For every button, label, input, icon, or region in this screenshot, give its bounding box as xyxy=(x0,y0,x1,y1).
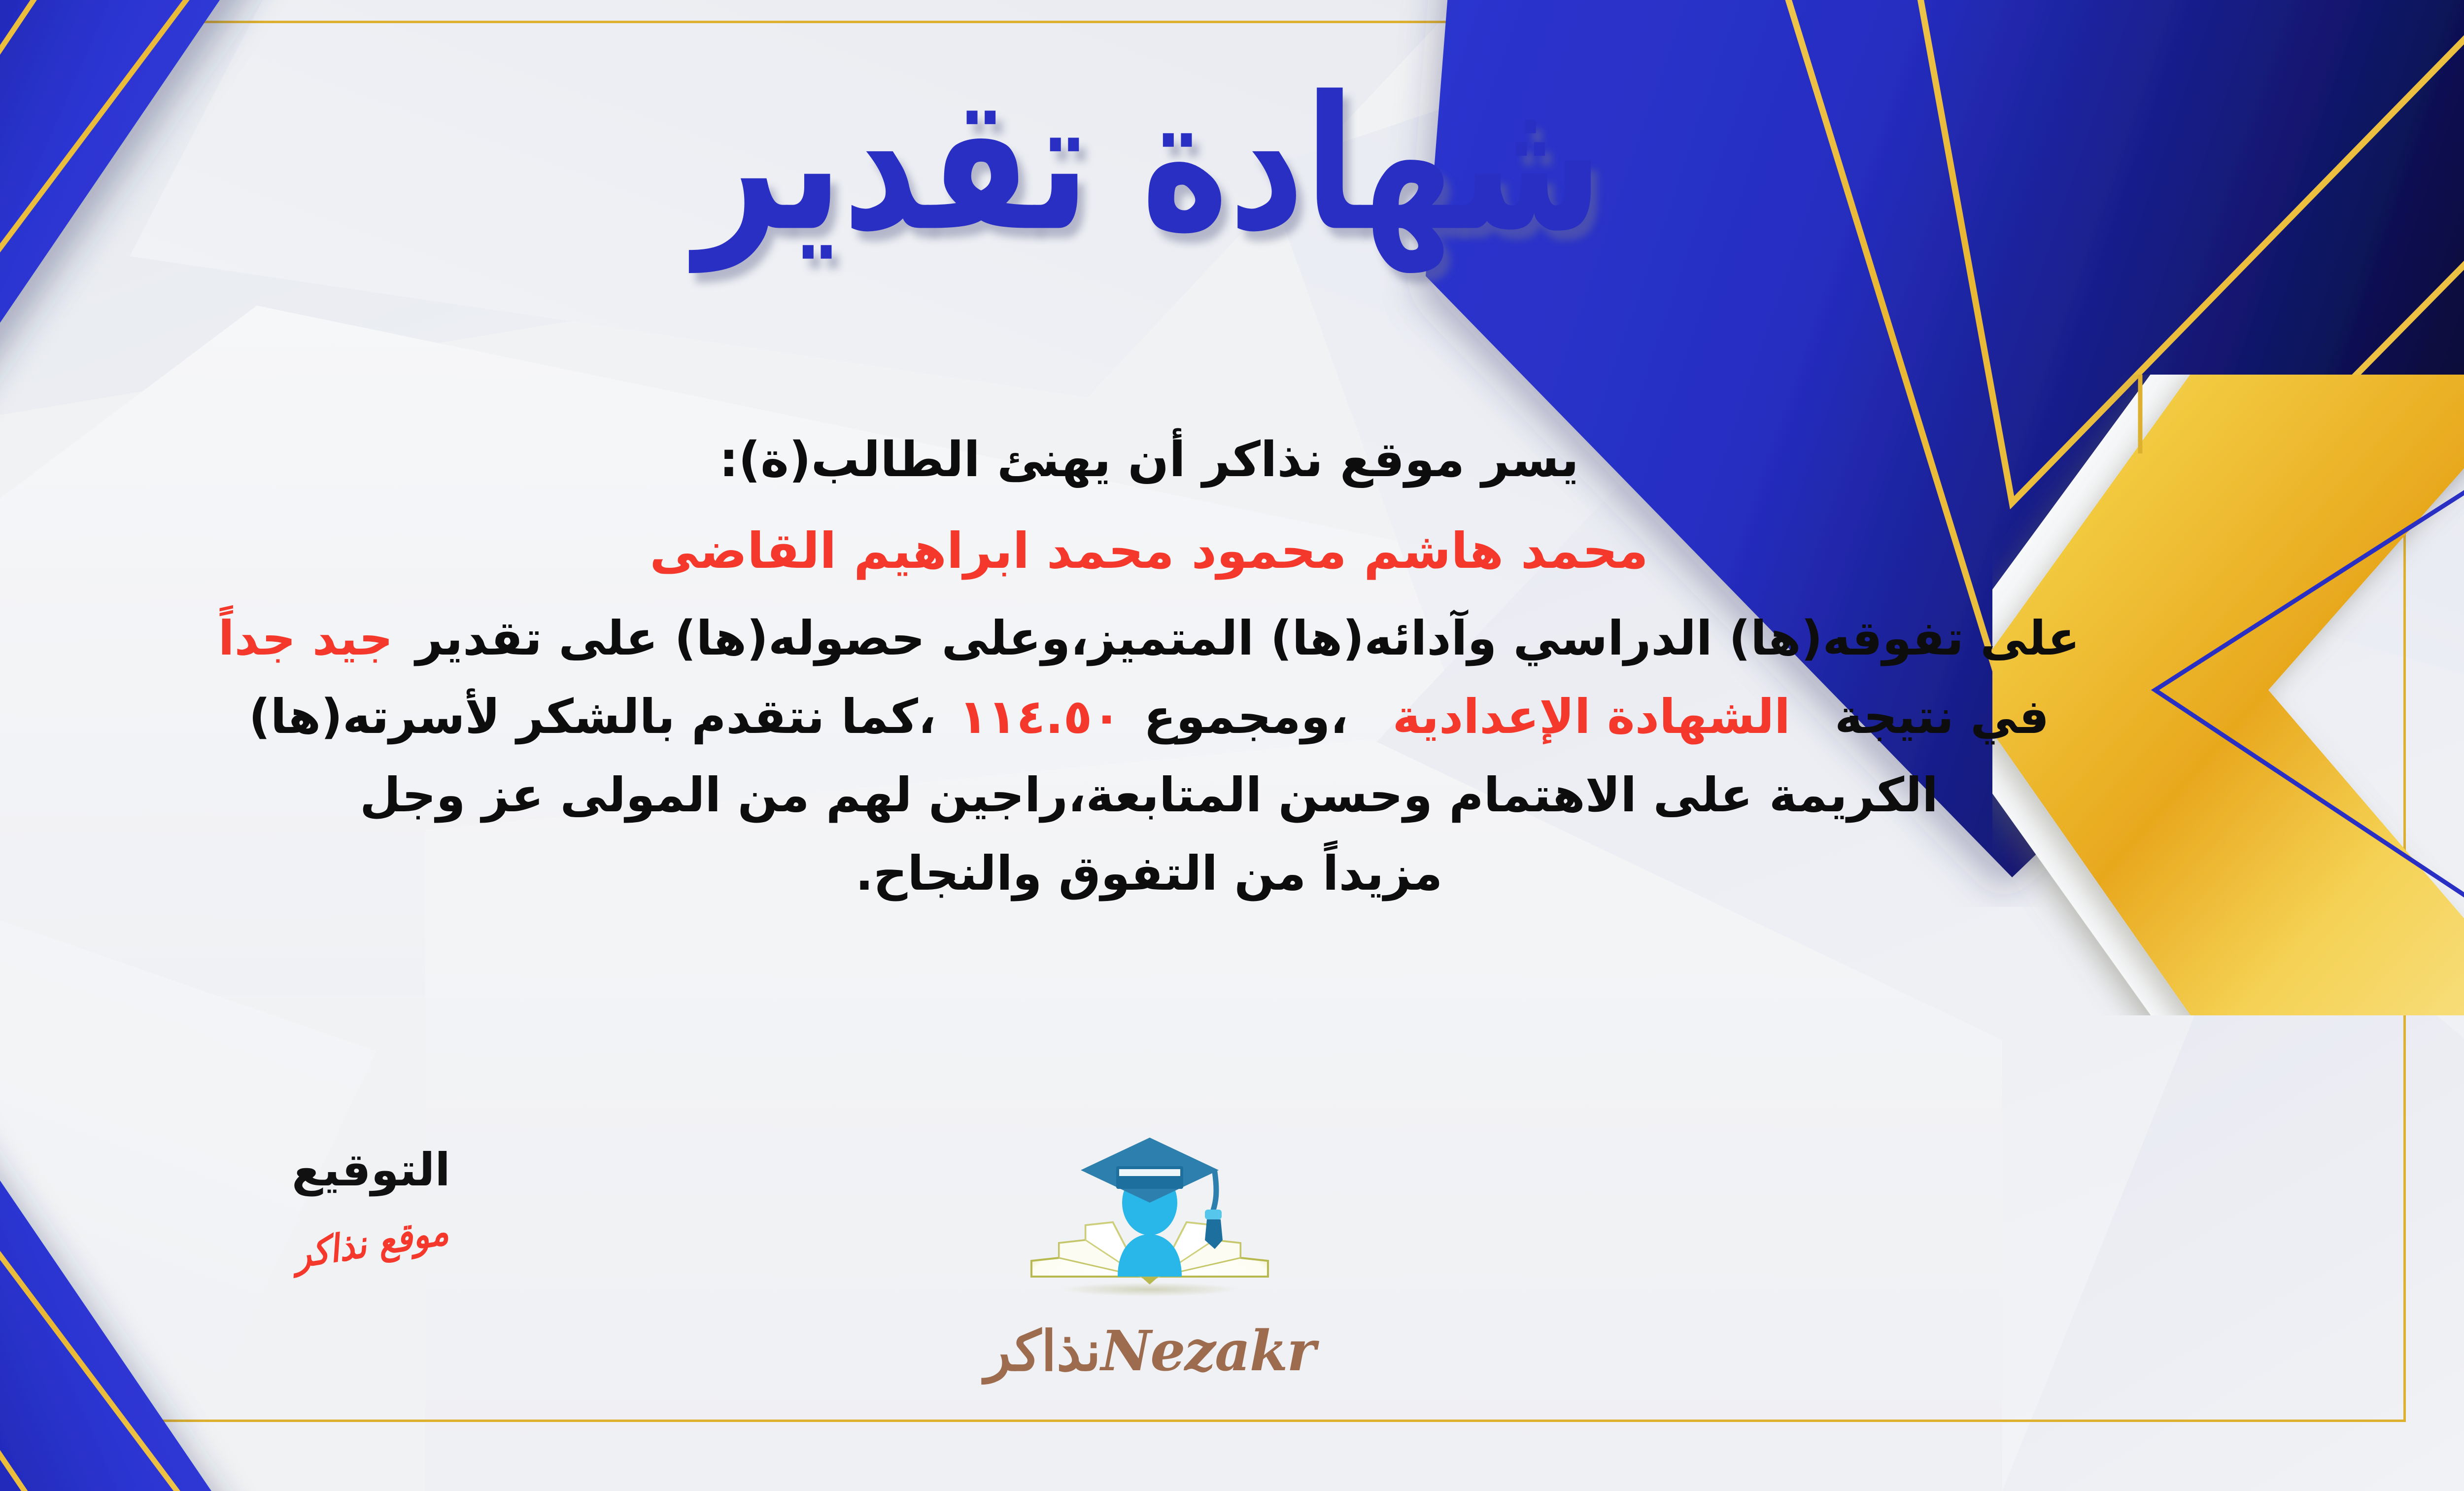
result-line: في نتيجةالشهادة الإعدادية،ومجموع١١٤.٥٠،ك… xyxy=(0,686,2365,748)
intro-line: يسر موقع نذاكر أن يهنئ الطالب(ة): xyxy=(0,429,2365,491)
family-thanks-line: الكريمة على الاهتمام وحسن المتابعة،راجين… xyxy=(0,764,2365,826)
exam-name: الشهادة الإعدادية xyxy=(1393,689,1790,744)
total-score: ١١٤.٥٠ xyxy=(958,689,1121,744)
certificate-title-wrap: شهادة تقدير xyxy=(0,39,2464,239)
closing-line: مزيداً من التفوق والنجاح. xyxy=(0,843,2365,904)
graduate-book-logo-icon xyxy=(1012,1129,1288,1326)
certificate-body: يسر موقع نذاكر أن يهنئ الطالب(ة): محمد ه… xyxy=(0,429,2365,921)
certificate-canvas: شهادة تقدير يسر موقع نذاكر أن يهنئ الطال… xyxy=(0,0,2464,1491)
thanks-text: ،كما نتقدم بالشكر لأسرته(ها) xyxy=(249,689,936,744)
signature-block: التوقيع موقع نذاكر xyxy=(218,1144,524,1265)
total-label: ،ومجموع xyxy=(1144,689,1348,744)
result-prefix: في نتيجة xyxy=(1835,689,2049,744)
achievement-line: على تفوقه(ها) الدراسي وآدائه(ها) المتميز… xyxy=(0,608,2365,669)
achievement-text: على تفوقه(ها) الدراسي وآدائه(ها) المتميز… xyxy=(416,611,2080,666)
logo-block: Nezakrنذاكر xyxy=(933,1129,1367,1384)
signature-label: التوقيع xyxy=(218,1144,524,1196)
grade-value: جيد جداً xyxy=(218,611,393,666)
logo-arabic: نذاكر xyxy=(985,1319,1101,1384)
student-name: محمد هاشم محمود محمد ابراهيم القاضى xyxy=(0,519,2365,583)
certificate-title: شهادة تقدير xyxy=(695,39,1603,289)
logo-wordmark: Nezakrنذاكر xyxy=(933,1319,1367,1384)
logo-latin: Nezakr xyxy=(1101,1319,1315,1384)
